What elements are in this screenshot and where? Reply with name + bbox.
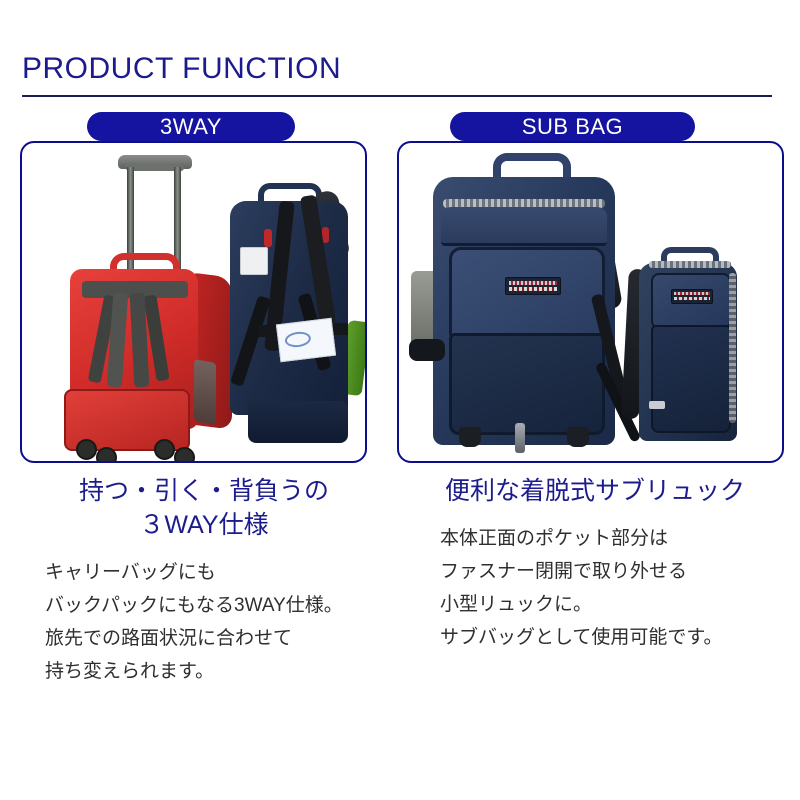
navy-bag-rear-pocket-card [276,318,336,363]
sub-bag-side-zipper [729,273,736,423]
red-bag-wheel [96,447,117,463]
badge-sub-bag: SUB BAG [450,112,695,141]
caption-body-line: キャリーバッグにも [45,556,380,589]
brand-label [505,277,561,295]
caption-body-3way: キャリーバッグにも バックパックにもなる3WAY仕様。 旅先での路面状況に合わせ… [20,556,380,688]
photo-frame-3way [20,141,367,463]
main-bag-lower-panel [449,333,605,435]
sub-bag-top-zipper [649,261,731,268]
caption-body-line: サブバッグとして使用可能です。 [440,621,780,654]
navy-bag-zipper-tab [264,229,272,247]
caption-heading-3way: 持つ・引く・背負うの ３WAY仕様 [20,474,380,542]
caption-body-line: 小型リュックに。 [440,588,780,621]
title-divider [22,95,772,97]
main-bag-top-compartment [441,207,607,246]
badge-3way: 3WAY [87,112,295,141]
navy-bag-name-tag [240,247,268,275]
caption-body-line: 持ち変えられます。 [45,655,380,688]
caption-heading-line: 持つ・引く・背負うの [28,474,380,508]
red-bag-wheel [76,439,97,460]
main-bag-wheel [567,427,589,447]
brand-label [671,289,713,304]
main-bag-zipper-pull [515,423,525,453]
caption-heading-sub-bag: 便利な着脱式サブリュック [400,474,780,508]
caption-heading-line: ３WAY仕様 [28,508,380,542]
caption-column-sub-bag: 便利な着脱式サブリュック 本体正面のポケット部分は ファスナー閉開で取り外せる … [400,474,780,654]
main-bag-side-trim [409,339,445,361]
photo-frame-sub-bag [397,141,784,463]
red-bag-wheel [174,447,195,463]
sub-bag-lower-panel [651,325,731,433]
sub-bag-tag [649,401,665,409]
red-bag-wheel [154,439,175,460]
red-bag-side-pocket [194,359,216,425]
caption-body-line: ファスナー閉開で取り外せる [440,555,780,588]
caption-body-line: バックパックにもなる3WAY仕様。 [45,589,380,622]
main-bag-wheel [459,427,481,447]
product-function-page: PRODUCT FUNCTION 3WAY SUB BAG [0,0,800,800]
caption-heading-line: 便利な着脱式サブリュック [410,474,780,508]
caption-body-line: 本体正面のポケット部分は [440,522,780,555]
caption-column-3way: 持つ・引く・背負うの ３WAY仕様 キャリーバッグにも バックパックにもなる3W… [20,474,380,688]
caption-body-line: 旅先での路面状況に合わせて [45,622,380,655]
page-title: PRODUCT FUNCTION [22,52,341,86]
caption-body-sub-bag: 本体正面のポケット部分は ファスナー閉開で取り外せる 小型リュックに。 サブバッ… [400,522,780,654]
navy-bag-base [248,401,348,443]
